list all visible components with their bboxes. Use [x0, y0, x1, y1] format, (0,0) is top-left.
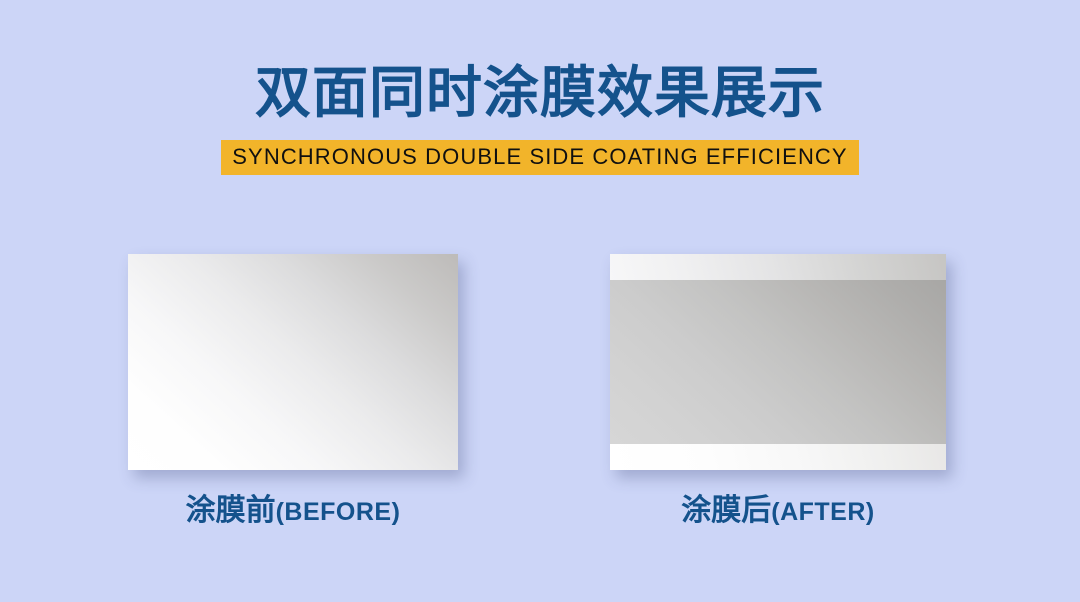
slide-canvas: 双面同时涂膜效果展示 SYNCHRONOUS DOUBLE SIDE COATI… [0, 0, 1080, 602]
panel-before: 涂膜前(BEFORE) [128, 254, 458, 531]
coated-band-middle [610, 280, 946, 444]
glass-sample-after-image [610, 254, 946, 470]
panel-after-caption-en: (AFTER) [771, 498, 874, 526]
panel-before-caption: 涂膜前(BEFORE) [128, 492, 458, 531]
subtitle-banner: SYNCHRONOUS DOUBLE SIDE COATING EFFICIEN… [221, 140, 858, 175]
uncoated-strip-bottom [610, 444, 946, 470]
uncoated-strip-top [610, 254, 946, 280]
panel-after-caption-cn: 涂膜后 [681, 494, 771, 527]
panel-after: 涂膜后(AFTER) [610, 254, 946, 531]
subtitle-wrapper: SYNCHRONOUS DOUBLE SIDE COATING EFFICIEN… [0, 140, 1080, 175]
panel-before-caption-en: (BEFORE) [276, 498, 401, 526]
page-title: 双面同时涂膜效果展示 [0, 60, 1080, 126]
header-block: 双面同时涂膜效果展示 SYNCHRONOUS DOUBLE SIDE COATI… [0, 60, 1080, 175]
comparison-panels: 涂膜前(BEFORE) 涂膜后(AFTER) [0, 254, 1080, 554]
glass-sample-before-image [128, 254, 458, 470]
panel-before-caption-cn: 涂膜前 [186, 494, 276, 527]
panel-after-caption: 涂膜后(AFTER) [610, 492, 946, 531]
